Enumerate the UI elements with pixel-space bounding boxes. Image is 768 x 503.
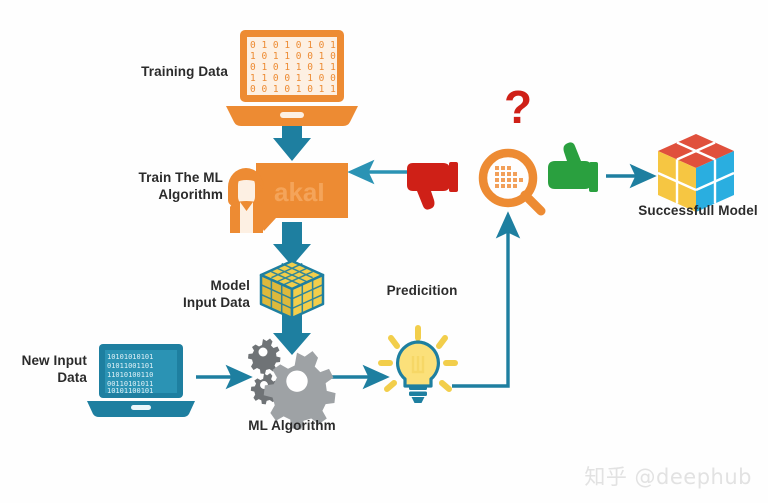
svg-text:akaI: akaI <box>274 177 325 207</box>
svg-text:10101100101: 10101100101 <box>107 387 153 395</box>
arrow-board-to-cube <box>273 222 311 266</box>
svg-text:0 1 0 1 0 1 0 1: 0 1 0 1 0 1 0 1 <box>250 40 336 51</box>
cube-rubik-colored-icon <box>658 134 734 212</box>
elbow-lightbulb-to-evaluation <box>452 216 508 386</box>
label-model-input-data: Model Input Data <box>140 278 250 312</box>
svg-text:0 0 1 0 1 0 1 1: 0 0 1 0 1 0 1 1 <box>250 84 336 95</box>
svg-text:01011001101: 01011001101 <box>107 362 153 370</box>
svg-text:11010100110: 11010100110 <box>107 371 153 379</box>
svg-text:1 1 0 0 1 1 0 0: 1 1 0 0 1 1 0 0 <box>250 73 336 84</box>
diagram-canvas: 0 1 0 1 0 1 0 1 1 0 1 1 0 0 1 0 0 1 0 1 … <box>0 0 768 503</box>
laptop-binary-orange-icon: 0 1 0 1 0 1 0 1 1 0 1 1 0 0 1 0 0 1 0 1 … <box>226 30 358 126</box>
label-train-ml-algorithm: Train The ML Algorithm <box>108 170 223 204</box>
svg-text:1 0 1 1 0 0 1 0: 1 0 1 1 0 0 1 0 <box>250 51 336 62</box>
label-prediction: Predicition <box>362 283 482 300</box>
laptop-binary-teal-icon: 10101010101 01011001101 11010100110 0011… <box>87 344 195 417</box>
lightbulb-icon <box>381 328 455 403</box>
label-training-data: Training Data <box>118 64 228 81</box>
diagram-svg: 0 1 0 1 0 1 0 1 1 0 1 1 0 0 1 0 0 1 0 1 … <box>0 0 768 503</box>
cube-yellow-grid-icon <box>261 261 323 318</box>
label-successful-model: Successfull Model <box>608 203 768 220</box>
svg-text:?: ? <box>504 81 532 133</box>
thumbs-up-icon <box>548 142 598 192</box>
svg-text:10101010101: 10101010101 <box>107 353 153 361</box>
question-mark-icon: ? <box>504 81 532 133</box>
magnifying-glass-chart-icon <box>483 153 541 211</box>
watermark: 知乎 @deephub <box>584 461 752 491</box>
thumbs-down-icon <box>407 162 458 210</box>
label-ml-algorithm: ML Algorithm <box>222 418 362 435</box>
svg-text:0 1 0 1 1 0 1 1: 0 1 0 1 1 0 1 1 <box>250 62 336 73</box>
label-new-input-data: New Input Data <box>0 353 87 387</box>
